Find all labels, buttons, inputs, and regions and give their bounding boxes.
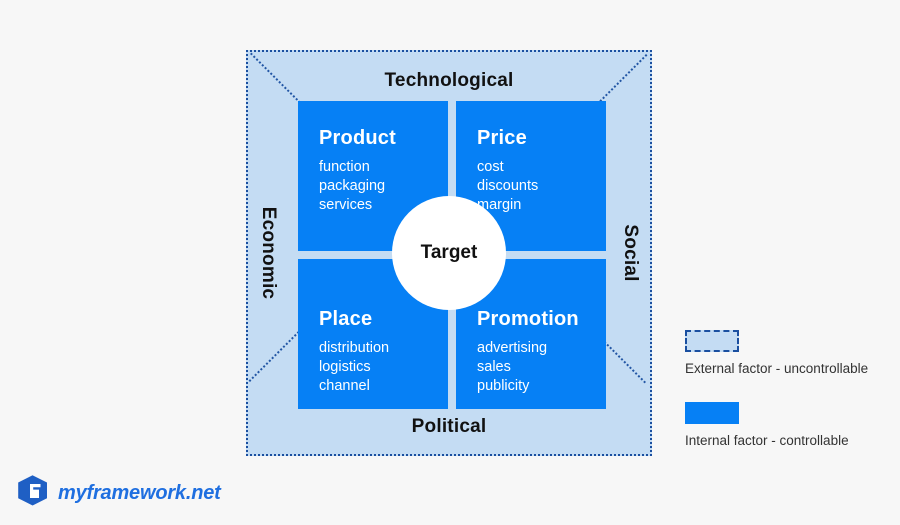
external-environment-frame: Technological Political Economic Social … [246, 50, 652, 456]
legend-swatch-internal [685, 402, 739, 424]
legend-swatch-external [685, 330, 739, 352]
quadrant-product-title: Product [319, 127, 448, 149]
list-item: logistics [319, 358, 448, 377]
list-item: advertising [477, 339, 606, 358]
list-item: packaging [319, 177, 448, 196]
list-item: discounts [477, 177, 606, 196]
list-item: distribution [319, 339, 448, 358]
quadrant-price-items: cost discounts margin [477, 158, 606, 215]
pestel-marketing-mix-diagram: Technological Political Economic Social … [246, 50, 652, 456]
corner-diagonal-bottom-left-icon [249, 331, 300, 382]
target-label: Target [421, 242, 478, 264]
brand-footer[interactable]: myframework.net [18, 475, 221, 511]
quadrant-price-title: Price [477, 127, 606, 149]
target-circle: Target [392, 196, 506, 310]
legend-item-external: External factor - uncontrollable [685, 330, 890, 376]
legend-label-internal: Internal factor - controllable [685, 433, 890, 448]
list-item: margin [477, 196, 606, 215]
external-factor-bottom-political: Political [248, 416, 650, 438]
quadrant-place-title: Place [319, 308, 448, 330]
quadrant-promotion-title: Promotion [477, 308, 606, 330]
cube-logo-icon [18, 475, 48, 511]
quadrant-place-items: distribution logistics channel [319, 339, 448, 396]
external-factor-top-technological: Technological [248, 70, 650, 92]
list-item: cost [477, 158, 606, 177]
external-factor-right-social: Social [619, 224, 641, 281]
list-item: sales [477, 358, 606, 377]
legend-label-external: External factor - uncontrollable [685, 361, 890, 376]
list-item: function [319, 158, 448, 177]
external-factor-left-economic: Economic [257, 207, 279, 299]
legend-item-internal: Internal factor - controllable [685, 402, 890, 448]
list-item: publicity [477, 377, 606, 396]
list-item: channel [319, 377, 448, 396]
brand-name: myframework.net [58, 482, 221, 505]
quadrant-promotion-items: advertising sales publicity [477, 339, 606, 396]
legend: External factor - uncontrollable Interna… [685, 330, 890, 474]
